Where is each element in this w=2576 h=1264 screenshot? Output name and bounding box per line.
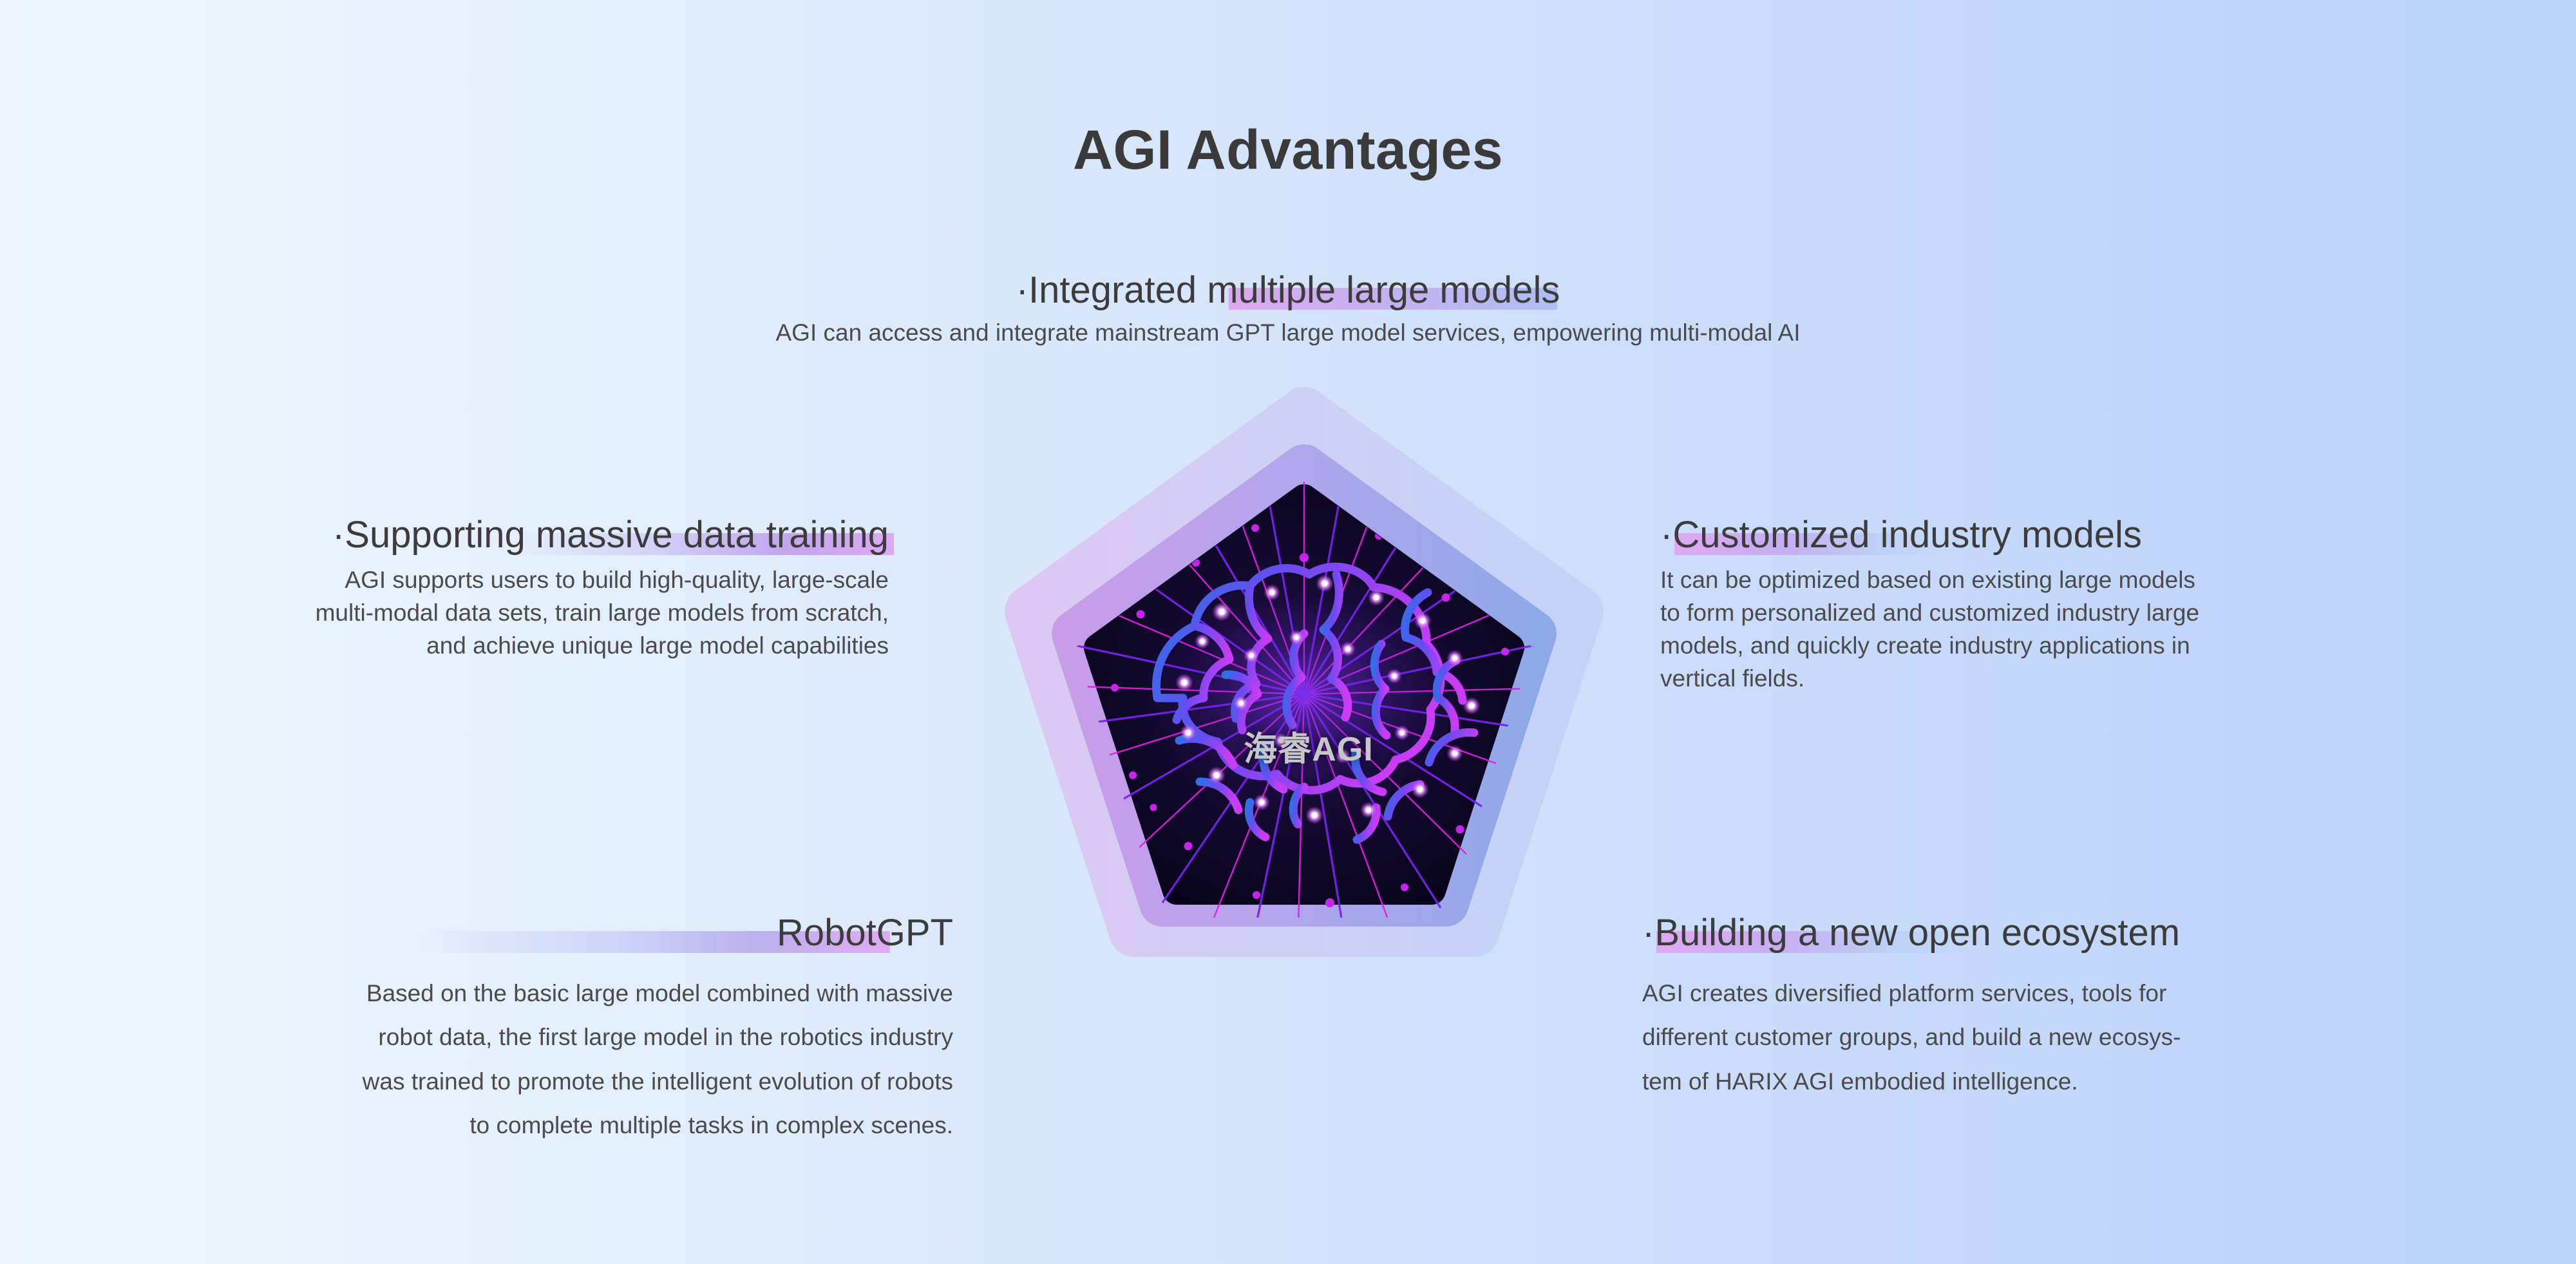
heading-text: Integrated multiple large models xyxy=(1028,269,1560,311)
feature-body: AGI creates diversified platform service… xyxy=(1642,972,2531,1104)
feature-customized-industry-models: ·Customized industry models It can be op… xyxy=(1660,515,2517,695)
bullet-glyph: · xyxy=(1660,514,1672,556)
body-line: AGI creates diversified platform service… xyxy=(1642,972,2531,1015)
feature-body: Based on the basic large model combined … xyxy=(39,972,953,1148)
body-line: Based on the basic large model combined … xyxy=(39,972,953,1015)
feature-body: AGI supports users to build high-quality… xyxy=(39,563,889,662)
bullet-glyph: · xyxy=(332,514,345,556)
pentagon-brain-illustration xyxy=(995,385,1613,1106)
body-line: vertical fields. xyxy=(1660,662,2517,695)
body-line: was trained to promote the intelligent e… xyxy=(39,1060,953,1104)
body-line: different customer groups, and build a n… xyxy=(1642,1015,2531,1059)
body-line: models, and quickly create industry appl… xyxy=(1660,629,2517,662)
body-line: to complete multiple tasks in complex sc… xyxy=(39,1104,953,1147)
slide-canvas: AGI Advantages xyxy=(0,0,2576,1264)
body-line: AGI can access and integrate mainstream … xyxy=(0,316,2576,349)
feature-body: AGI can access and integrate mainstream … xyxy=(0,316,2576,349)
bullet-glyph: · xyxy=(1642,912,1654,954)
body-line: and achieve unique large model capabilit… xyxy=(39,629,889,662)
feature-heading: ·Customized industry models xyxy=(1660,515,2517,556)
bullet-glyph: · xyxy=(1016,269,1028,311)
feature-body: It can be optimized based on existing la… xyxy=(1660,563,2517,695)
heading-text: RobotGPT xyxy=(777,912,953,954)
heading-text: Building a new open ecosystem xyxy=(1654,912,2180,954)
agi-center-graphic: 海睿AGI xyxy=(995,385,1613,1106)
feature-robotgpt: ·RobotGPT Based on the basic large model… xyxy=(39,913,953,1147)
feature-heading: ·Supporting massive data training xyxy=(332,515,889,556)
body-line: multi-modal data sets, train large model… xyxy=(39,596,889,629)
body-line: robot data, the first large model in the… xyxy=(39,1015,953,1059)
page-title: AGI Advantages xyxy=(0,122,2576,178)
feature-open-ecosystem: ·Building a new open ecosystem AGI creat… xyxy=(1642,913,2531,1104)
body-line: AGI supports users to build high-quality… xyxy=(39,563,889,596)
heading-text: Supporting massive data training xyxy=(345,514,889,556)
feature-heading: ·Integrated multiple large models xyxy=(1016,270,1560,311)
feature-massive-data-training: ·Supporting massive data training AGI su… xyxy=(39,515,889,662)
feature-heading: ·Building a new open ecosystem xyxy=(1642,913,2531,954)
body-line: tem of HARIX AGI embodied intelligence. xyxy=(1642,1060,2531,1104)
feature-heading: ·RobotGPT xyxy=(764,913,953,954)
heading-text: Customized industry models xyxy=(1672,514,2142,556)
body-line: It can be optimized based on existing la… xyxy=(1660,563,2517,596)
feature-integrated-models: ·Integrated multiple large models AGI ca… xyxy=(0,270,2576,349)
body-line: to form personalized and customized indu… xyxy=(1660,596,2517,629)
